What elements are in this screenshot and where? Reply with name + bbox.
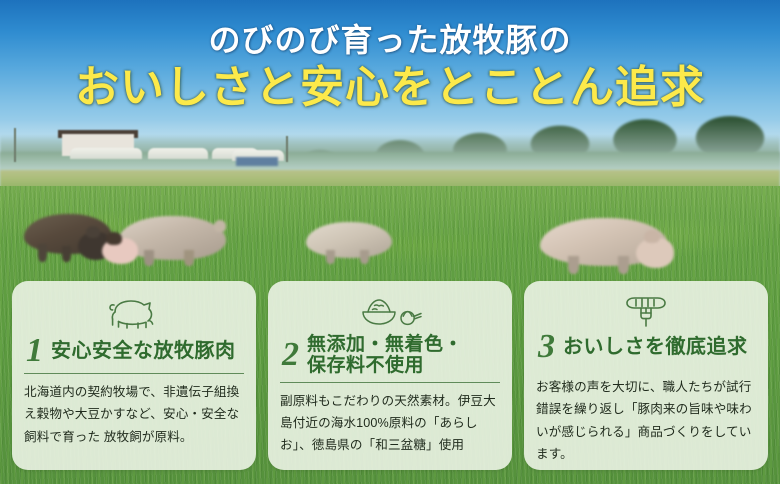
card-3-heading: 3 おいしさを徹底追求 — [536, 330, 756, 369]
utility-pole — [14, 128, 16, 162]
feature-card-2: 2 無添加・無着色・ 保存料不使用 副原料もこだわりの天然素材。伊豆大島付近の海… — [268, 281, 512, 470]
greenhouse — [70, 148, 142, 159]
card-3-body: お客様の声を大切に、職人たちが試行錯誤を繰り返し「豚肉来の旨味や味わいが感じられ… — [536, 376, 756, 466]
pig-photo — [24, 214, 112, 254]
card-3-title: おいしさを徹底追求 — [563, 336, 748, 358]
feature-card-1: 1 安心安全な放牧豚肉 北海道内の契約牧場で、非遺伝子組換え穀物や大豆かすなど、… — [12, 281, 256, 470]
card-1-divider — [24, 373, 244, 374]
card-3-number: 3 — [536, 330, 555, 364]
sausage-fork-icon — [618, 293, 674, 329]
headline-line-2: おいしさと安心をとことん追求 — [0, 66, 780, 110]
card-1-heading: 1 安心安全な放牧豚肉 — [24, 334, 244, 373]
card-1-title: 安心安全な放牧豚肉 — [51, 340, 236, 362]
promo-banner: のびのび育った放牧豚の おいしさと安心をとことん追求 — [0, 0, 780, 484]
salt-bowl-icon — [357, 293, 423, 333]
card-2-divider — [280, 382, 500, 383]
pig-icon — [105, 293, 163, 333]
feature-card-3: 3 おいしさを徹底追求 お客様の声を大切に、職人たちが試行錯誤を繰り返し「豚肉来… — [524, 281, 768, 470]
headline: のびのび育った放牧豚の おいしさと安心をとことん追求 — [0, 24, 780, 110]
pig-photo — [540, 218, 668, 266]
card-2-heading: 2 無添加・無着色・ 保存料不使用 — [280, 334, 500, 382]
feature-cards: 1 安心安全な放牧豚肉 北海道内の契約牧場で、非遺伝子組換え穀物や大豆かすなど、… — [0, 281, 780, 470]
card-2-number: 2 — [280, 338, 299, 372]
card-2-title: 無添加・無着色・ 保存料不使用 — [307, 334, 463, 377]
utility-pole — [286, 136, 288, 162]
card-1-number: 1 — [24, 334, 43, 368]
greenhouse — [148, 148, 208, 159]
headline-line-1: のびのび育った放牧豚の — [0, 24, 780, 56]
blue-shed — [236, 157, 278, 166]
pig-photo — [306, 222, 392, 258]
card-1-body: 北海道内の契約牧場で、非遺伝子組換え穀物や大豆かすなど、安心・安全な飼料で育った… — [24, 381, 244, 448]
card-2-body: 副原料もこだわりの天然素材。伊豆大島付近の海水100%原料の「あらしお」、徳島県… — [280, 390, 500, 457]
pig-photo — [118, 216, 226, 260]
